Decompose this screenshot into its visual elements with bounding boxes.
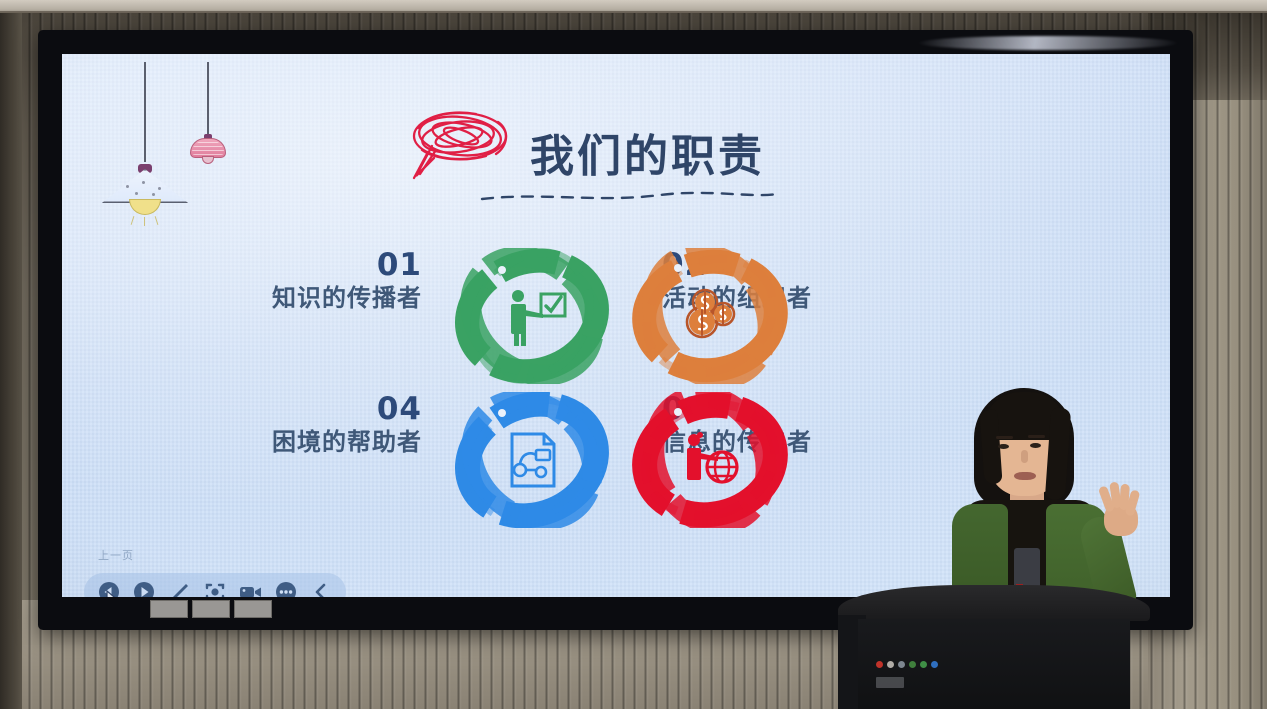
lectern bbox=[838, 585, 1150, 709]
indicator-light bbox=[876, 661, 883, 668]
role-number: 01 bbox=[212, 250, 422, 281]
coins-icon bbox=[674, 280, 746, 352]
document-flowchart-icon bbox=[496, 424, 568, 496]
indicator-light bbox=[931, 661, 938, 668]
presentation-toolbar[interactable] bbox=[84, 573, 346, 597]
role-ring-04 bbox=[452, 392, 612, 528]
indicator-light bbox=[898, 661, 905, 668]
next-slide-button[interactable] bbox=[127, 575, 160, 597]
presenter-brow-right bbox=[1028, 435, 1045, 438]
lectern-desktop bbox=[838, 585, 1150, 621]
role-card-04[interactable]: 04 困境的帮助者 bbox=[212, 394, 422, 457]
circle-right-triangle-icon bbox=[133, 581, 155, 597]
record-button[interactable] bbox=[234, 575, 267, 597]
role-card-02[interactable]: 02 活动的组织者 bbox=[630, 250, 872, 313]
indicator-light bbox=[909, 661, 916, 668]
indicator-light bbox=[887, 661, 894, 668]
presenter-mouth bbox=[1014, 472, 1036, 480]
role-card-03[interactable]: 03 信息的传递者 bbox=[630, 394, 872, 457]
indicator-light bbox=[920, 661, 927, 668]
role-ring-03 bbox=[630, 392, 790, 528]
mouse-cursor bbox=[106, 590, 122, 597]
lectern-nameplate bbox=[876, 677, 904, 688]
video-camera-icon bbox=[238, 582, 262, 597]
role-label: 知识的传播者 bbox=[212, 283, 422, 313]
bezel-sticker bbox=[234, 600, 272, 618]
wall-left-edge bbox=[0, 13, 22, 709]
annotate-pen-button[interactable] bbox=[163, 575, 196, 597]
role-number: 04 bbox=[212, 394, 422, 425]
presenter-hand bbox=[1098, 484, 1142, 536]
presenter-brow-left bbox=[996, 436, 1013, 439]
more-dots-icon bbox=[275, 581, 297, 597]
presenter-nose bbox=[1021, 450, 1028, 463]
prev-page-hint-label: 上一页 bbox=[98, 547, 134, 563]
bezel-sticker bbox=[192, 600, 230, 618]
collapse-toolbar-button[interactable] bbox=[305, 575, 338, 597]
role-text-01: 01 知识的传播者 bbox=[212, 250, 422, 313]
lectern-indicator-lights bbox=[876, 661, 938, 668]
role-ring-02 bbox=[630, 248, 790, 384]
pencil-icon bbox=[168, 580, 192, 597]
role-ring-01 bbox=[452, 248, 612, 384]
bezel-glare bbox=[918, 36, 1178, 50]
role-text-04: 04 困境的帮助者 bbox=[212, 394, 422, 457]
room-scene: 我们的职责 01 知识的传播者 bbox=[0, 0, 1267, 709]
person-globe-icon bbox=[674, 424, 746, 496]
bezel-sticker-labels bbox=[150, 600, 272, 618]
focus-frame-icon bbox=[204, 581, 226, 597]
screenshot-button[interactable] bbox=[198, 575, 231, 597]
presenter-board-icon bbox=[496, 280, 568, 352]
role-label: 困境的帮助者 bbox=[212, 427, 422, 457]
chevron-left-icon bbox=[312, 582, 330, 597]
presenter-eye-right bbox=[1030, 443, 1041, 448]
role-card-01[interactable]: 01 知识的传播者 bbox=[212, 250, 422, 313]
more-options-button[interactable] bbox=[269, 575, 302, 597]
presenter-eye-left bbox=[998, 444, 1009, 449]
bezel-sticker bbox=[150, 600, 188, 618]
